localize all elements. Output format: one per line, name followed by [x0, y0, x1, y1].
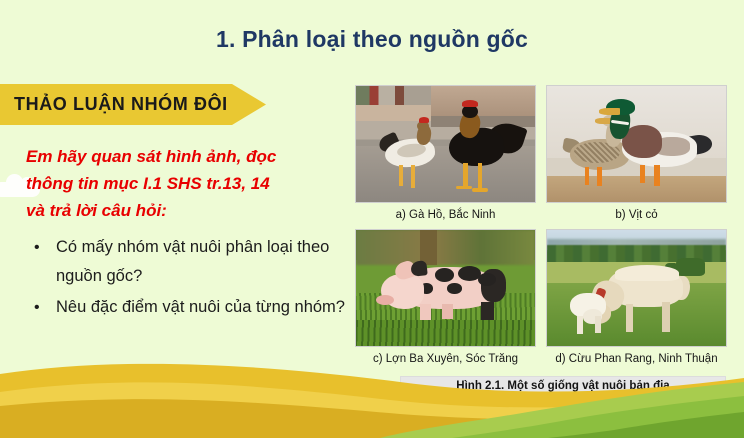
- prompt-line-3: và trả lời câu hỏi:: [26, 197, 348, 224]
- drake-bill: [599, 108, 620, 115]
- rooster-leg: [478, 163, 482, 191]
- bullet-icon: •: [34, 293, 40, 322]
- drake-leg: [654, 165, 659, 186]
- hen-leg: [411, 165, 415, 188]
- photo-caption: a) Gà Hồ, Bắc Ninh: [355, 203, 536, 229]
- list-item: • Có mấy nhóm vật nuôi phân loại theo ng…: [26, 233, 348, 291]
- landscape-svg: [0, 348, 744, 438]
- photo-caption: b) Vịt cỏ: [546, 203, 727, 229]
- duck-leg: [585, 167, 590, 184]
- activity-banner-label: THẢO LUẬN NHÓM ĐÔI: [0, 94, 228, 115]
- photo-bg-blur: [356, 230, 535, 265]
- piglet-ear: [411, 261, 429, 278]
- rooster-foot: [472, 188, 488, 191]
- rooster-comb: [462, 100, 478, 107]
- question-text: Có mấy nhóm vật nuôi phân loại theo nguồ…: [56, 238, 329, 285]
- list-item: • Nêu đặc điểm vật nuôi của từng nhóm?: [26, 293, 348, 322]
- duck-leg: [597, 167, 602, 186]
- photo-sheep: [546, 229, 727, 347]
- sheep-back: [615, 265, 679, 281]
- cactus-shape: [676, 258, 705, 277]
- photo-bg-ground: [547, 176, 726, 202]
- piglet-leg: [420, 304, 431, 320]
- photo-bg-wall-left: [356, 86, 431, 105]
- sheep-leg: [662, 302, 671, 332]
- photo-bg-wall-right: [431, 86, 535, 116]
- photo-chickens: [355, 85, 536, 203]
- figure-item-a: a) Gà Hồ, Bắc Ninh: [355, 85, 536, 229]
- bullet-icon: •: [34, 233, 40, 262]
- prompt-line-2: thông tin mục I.1 SHS tr.13, 14: [26, 170, 348, 197]
- instructions-panel: Em hãy quan sát hình ảnh, đọc thông tin …: [26, 143, 348, 324]
- question-list: • Có mấy nhóm vật nuôi phân loại theo ng…: [26, 233, 348, 322]
- photo-ducks: [546, 85, 727, 203]
- drake-leg: [640, 165, 645, 184]
- figure-item-b: b) Vịt cỏ: [546, 85, 727, 229]
- page-title: 1. Phân loại theo nguồn gốc: [0, 26, 744, 53]
- piglet-leg: [442, 304, 453, 319]
- piglet-spot: [447, 283, 461, 293]
- photo-fg-grass: [356, 320, 535, 346]
- rooster-foot: [456, 186, 472, 189]
- sheep-leg: [626, 304, 633, 332]
- figure-grid: a) Gà Hồ, Bắc Ninh: [355, 85, 726, 373]
- hen-leg: [399, 165, 403, 186]
- question-text: Nêu đặc điểm vật nuôi của từng nhóm?: [56, 298, 345, 316]
- photo-bg-ground: [356, 146, 535, 202]
- piglet-spot: [478, 273, 496, 286]
- piglet-leg: [481, 302, 494, 321]
- hen-comb: [419, 117, 430, 123]
- prompt-line-1: Em hãy quan sát hình ảnh, đọc: [26, 143, 348, 170]
- piglet-snout: [376, 295, 394, 305]
- prompt-text: Em hãy quan sát hình ảnh, đọc thông tin …: [26, 143, 348, 224]
- photo-bg-post: [420, 230, 436, 265]
- slide-canvas: 1. Phân loại theo nguồn gốc THẢO LUẬN NH…: [0, 0, 744, 438]
- activity-banner: THẢO LUẬN NHÓM ĐÔI: [0, 84, 266, 125]
- lamb-leg: [595, 316, 600, 333]
- lamb-leg: [577, 316, 582, 335]
- rooster-leg: [463, 163, 467, 189]
- photo-piglet: [355, 229, 536, 347]
- landscape-decoration: [0, 348, 744, 438]
- photo-bg-step: [431, 116, 535, 126]
